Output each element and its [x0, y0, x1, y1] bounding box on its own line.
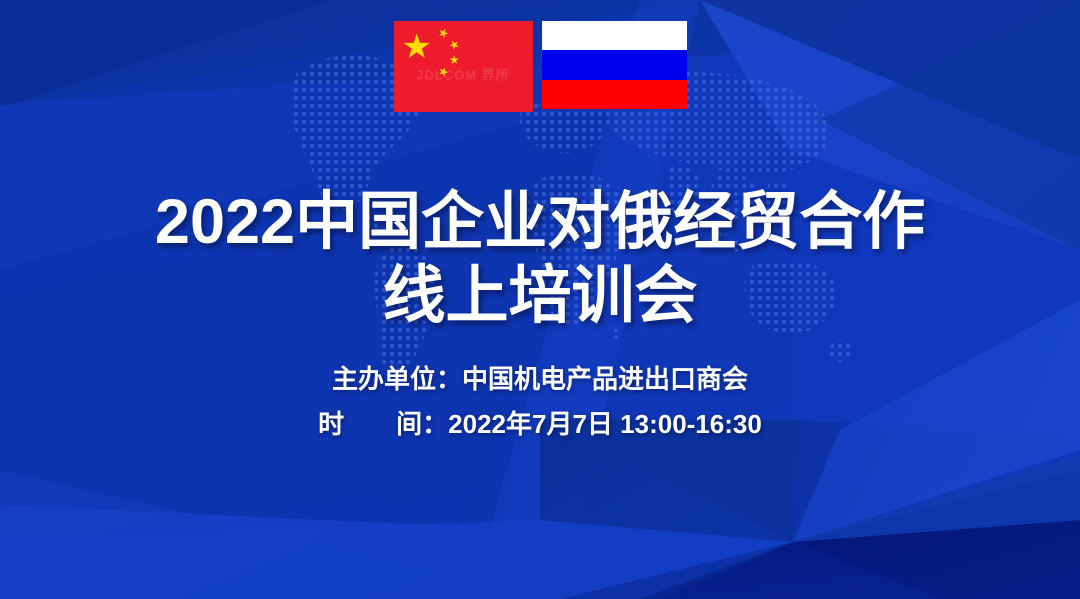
title-line-2: 线上培训会 [0, 259, 1080, 333]
time-row: 时 间：2022年7月7日 13:00-16:30 [0, 402, 1080, 447]
russia-flag-band-white [542, 21, 687, 50]
organizer-row: 主办单位：中国机电产品进出口商会 [0, 357, 1080, 402]
event-details: 主办单位：中国机电产品进出口商会 时 间：2022年7月7日 13:00-16:… [0, 357, 1080, 447]
poster-canvas: ★ ★ ★ ★ ★ JDLCOM 界所 2022中国企业对俄经贸合作 线上培训会… [0, 0, 1080, 599]
flag-pair: ★ ★ ★ ★ ★ JDLCOM 界所 [0, 21, 1080, 112]
china-flag-star-large: ★ [402, 30, 432, 64]
russia-flag-band-blue [542, 50, 687, 79]
china-flag-star-small-1: ★ [436, 25, 450, 40]
russia-flag-band-red [542, 80, 687, 109]
title-line-1: 2022中国企业对俄经贸合作 [0, 185, 1080, 259]
russia-flag [542, 21, 687, 109]
china-flag: ★ ★ ★ ★ ★ JDLCOM 界所 [394, 21, 533, 112]
flag-watermark: JDLCOM 界所 [416, 64, 510, 83]
page-title: 2022中国企业对俄经贸合作 线上培训会 [0, 185, 1080, 333]
china-flag-star-small-2: ★ [446, 37, 462, 53]
